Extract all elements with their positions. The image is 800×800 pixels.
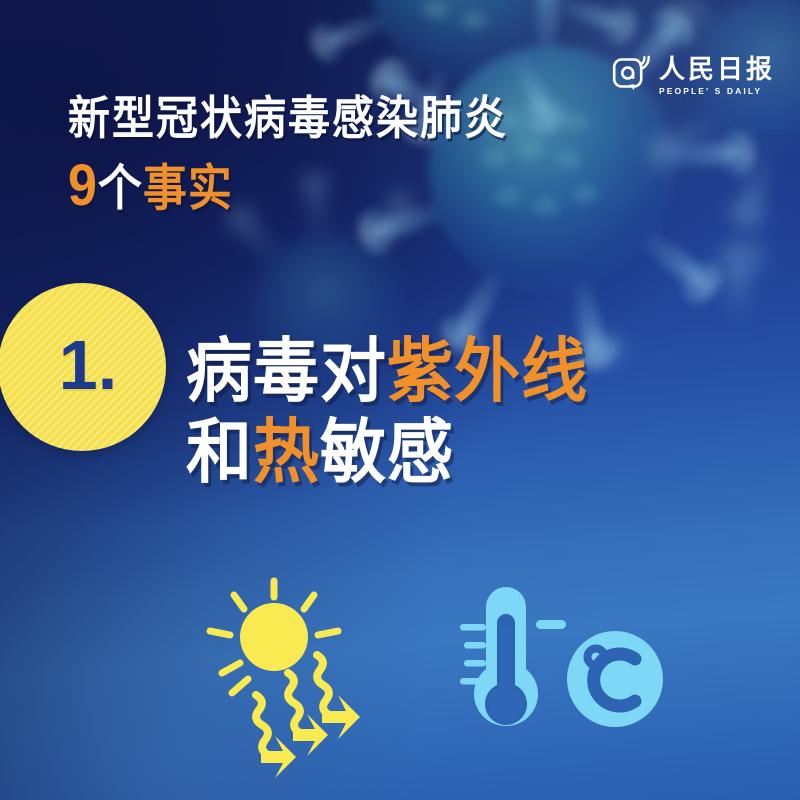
publisher-logo[interactable]: 人民日报 PEOPLE' S DAILY — [612, 54, 775, 95]
headline-row-1: 病毒对紫外线 — [186, 328, 588, 413]
headline-block: 病毒对紫外线 和热敏感 — [186, 328, 588, 489]
thermometer-body — [474, 587, 538, 726]
infographic-poster: 人民日报 PEOPLE' S DAILY 新型冠状病毒感染肺炎 9个事实 1. … — [0, 0, 800, 800]
logo-name-en: PEOPLE' S DAILY — [659, 87, 762, 96]
headline-row2-orange: 热 — [253, 412, 320, 490]
item-number-badge: 1. — [0, 283, 166, 451]
at-speech-bubble-icon — [612, 55, 652, 95]
item-number-label: 1. — [59, 330, 117, 400]
title-line-2: 9个事实 — [68, 157, 508, 217]
headline-row2-white-b: 敏感 — [320, 412, 454, 490]
headline-row2-white-a: 和 — [186, 412, 253, 490]
title-line-1: 新型冠状病毒感染肺炎 — [68, 92, 508, 144]
title-fact-count: 9 — [68, 154, 98, 219]
sun-uv-rays-icon — [196, 575, 396, 770]
title-fact-unit: 个 — [98, 162, 143, 217]
thermometer-celsius-icon — [452, 587, 667, 747]
headline-row1-orange: 紫外线 — [387, 331, 588, 409]
title-block: 新型冠状病毒感染肺炎 9个事实 — [68, 92, 508, 210]
headline-row1-white: 病毒对 — [186, 331, 387, 409]
icon-row — [0, 565, 800, 785]
logo-name-cn: 人民日报 — [659, 56, 775, 83]
title-fact-word: 事实 — [143, 162, 233, 217]
headline-row-2: 和热敏感 — [186, 409, 588, 494]
